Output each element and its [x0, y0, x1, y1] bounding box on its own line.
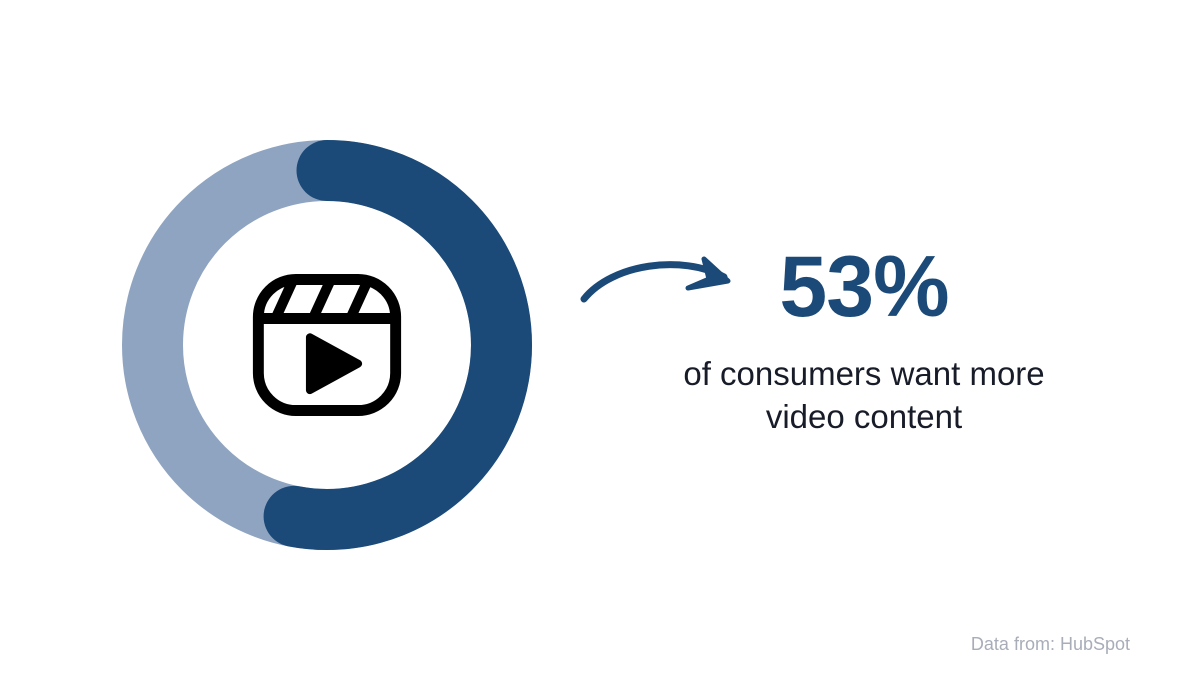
- video-clapperboard-icon-svg: [249, 267, 405, 423]
- stat-value: 53%: [662, 245, 1066, 329]
- stat-caption: of consumers want more video content: [662, 353, 1066, 437]
- infographic-canvas: 53% of consumers want more video content…: [0, 0, 1200, 700]
- stat-caption-line-2: video content: [662, 396, 1066, 438]
- play-triangle-icon: [310, 337, 358, 390]
- source-attribution: Data from: HubSpot: [971, 634, 1130, 655]
- stat-block: 53% of consumers want more video content: [662, 245, 1066, 438]
- video-clapperboard-icon: [249, 267, 405, 423]
- stat-caption-line-1: of consumers want more: [662, 353, 1066, 395]
- clapperboard-slashes: [276, 281, 368, 318]
